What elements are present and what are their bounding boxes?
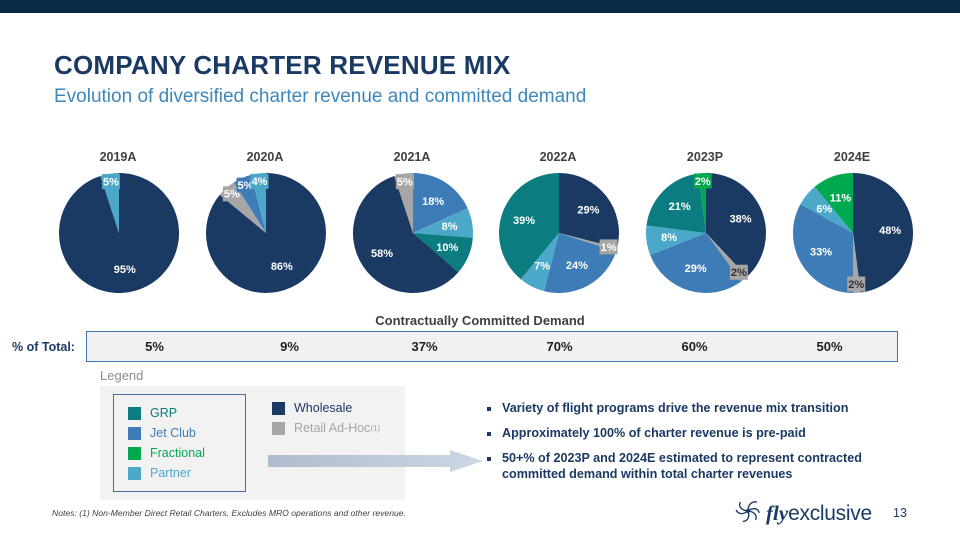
legend-item-retail-ad-hoc[interactable]: Retail Ad-Hoc(1) bbox=[272, 418, 402, 438]
legend-swatch-icon bbox=[128, 427, 141, 440]
bullet-marker-icon bbox=[487, 407, 491, 411]
pie-slice-value-label: 39% bbox=[513, 215, 535, 227]
page-subtitle: Evolution of diversified charter revenue… bbox=[54, 86, 586, 108]
legend-item-label: GRP bbox=[150, 406, 177, 420]
pie-slice-value-label: 2% bbox=[848, 279, 864, 291]
pie-svg: 86%5%5%4% bbox=[205, 172, 327, 294]
bullet-text: Variety of flight programs drive the rev… bbox=[502, 400, 848, 416]
pie-year-label: 2020A bbox=[185, 150, 345, 164]
legend-item-jet-club[interactable]: Jet Club bbox=[128, 423, 245, 443]
legend-item-label: Partner bbox=[150, 466, 191, 480]
percent-of-total-label: % of Total: bbox=[12, 340, 75, 354]
pie-svg: 95%5% bbox=[58, 172, 180, 294]
legend-item-wholesale[interactable]: Wholesale bbox=[272, 398, 402, 418]
legend-item-label: Wholesale bbox=[294, 401, 352, 415]
pie-slice-value-label: 2% bbox=[695, 176, 711, 188]
pie-year-label: 2023P bbox=[625, 150, 785, 164]
legend-item-label: Jet Club bbox=[150, 426, 196, 440]
pie-slice-value-label: 24% bbox=[566, 260, 588, 272]
pie-chart-2021a: 2021A18%8%10%58%5% bbox=[332, 150, 492, 325]
legend-swatch-icon bbox=[128, 467, 141, 480]
pie-slice-value-label: 11% bbox=[830, 192, 852, 204]
pie-slice-value-label: 21% bbox=[669, 201, 691, 213]
pie-slice-value-label: 7% bbox=[534, 261, 550, 273]
legend-swatch-icon bbox=[128, 407, 141, 420]
bullet-item: Variety of flight programs drive the rev… bbox=[487, 400, 927, 416]
slide-canvas: COMPANY CHARTER REVENUE MIX Evolution of… bbox=[0, 0, 960, 540]
legend-item-label: Fractional bbox=[150, 446, 205, 460]
pie-slice-value-label: 5% bbox=[397, 176, 413, 188]
logo-exclusive-text: exclusive bbox=[788, 502, 872, 525]
committed-demand-value: 9% bbox=[222, 339, 357, 354]
pie-slice-value-label: 6% bbox=[816, 204, 832, 216]
pie-slice-value-label: 38% bbox=[730, 214, 752, 226]
legend-swatch-icon bbox=[272, 422, 285, 435]
pie-slice-value-label: 8% bbox=[442, 221, 458, 233]
pie-svg: 18%8%10%58%5% bbox=[352, 172, 474, 294]
pie-slice-value-label: 1% bbox=[601, 242, 617, 254]
pie-slice-value-label: 29% bbox=[685, 263, 707, 275]
pie-slice-value-label: 33% bbox=[810, 246, 832, 258]
pie-slice-value-label: 8% bbox=[661, 232, 677, 244]
committed-demand-value: 70% bbox=[492, 339, 627, 354]
pie-slice-value-label: 10% bbox=[436, 242, 458, 254]
page-title: COMPANY CHARTER REVENUE MIX bbox=[54, 50, 511, 81]
pie-svg: 48%2%33%6%11% bbox=[792, 172, 914, 294]
bullet-text: 50+% of 2023P and 2024E estimated to rep… bbox=[502, 450, 927, 482]
legend-boxed-group: GRPJet ClubFractionalPartner bbox=[113, 394, 246, 492]
pie-slice-value-label: 95% bbox=[114, 264, 136, 276]
pie-slice-value-label: 86% bbox=[271, 261, 293, 273]
bullet-text: Approximately 100% of charter revenue is… bbox=[502, 425, 806, 441]
legend-heading: Legend bbox=[100, 368, 143, 383]
legend-footnote-marker: (1) bbox=[370, 424, 380, 433]
pie-chart-2022a: 2022A29%1%24%7%39% bbox=[478, 150, 638, 325]
pie-slice-value-label: 58% bbox=[371, 248, 393, 260]
pie-chart-2023p: 2023P38%2%29%8%21%2% bbox=[625, 150, 785, 325]
legend-outside-group: WholesaleRetail Ad-Hoc(1) bbox=[272, 398, 402, 438]
pie-year-label: 2022A bbox=[478, 150, 638, 164]
logo-fly-text: fly bbox=[766, 501, 788, 525]
legend-item-fractional[interactable]: Fractional bbox=[128, 443, 245, 463]
legend-item-partner[interactable]: Partner bbox=[128, 463, 245, 483]
committed-demand-title: Contractually Committed Demand bbox=[0, 313, 960, 328]
bullet-list: Variety of flight programs drive the rev… bbox=[487, 400, 927, 491]
turbine-swirl-icon bbox=[735, 498, 761, 529]
transition-arrow bbox=[268, 450, 483, 472]
committed-demand-value: 5% bbox=[87, 339, 222, 354]
pie-slice-value-label: 48% bbox=[879, 225, 901, 237]
logo-text: flyexclusive bbox=[766, 503, 872, 524]
pie-slice-value-label: 2% bbox=[731, 267, 747, 279]
page-number: 13 bbox=[893, 506, 907, 520]
committed-demand-value: 37% bbox=[357, 339, 492, 354]
committed-demand-value: 60% bbox=[627, 339, 762, 354]
pie-slice-value-label: 4% bbox=[252, 176, 268, 188]
committed-demand-value: 50% bbox=[762, 339, 897, 354]
legend-item-grp[interactable]: GRP bbox=[128, 403, 245, 423]
legend-swatch-icon bbox=[128, 447, 141, 460]
pie-year-label: 2019A bbox=[38, 150, 198, 164]
committed-demand-row: 5%9%37%70%60%50% bbox=[86, 331, 898, 362]
pie-slice-value-label: 18% bbox=[422, 196, 444, 208]
pie-chart-2024e: 2024E48%2%33%6%11% bbox=[772, 150, 932, 325]
pie-year-label: 2024E bbox=[772, 150, 932, 164]
bullet-item: 50+% of 2023P and 2024E estimated to rep… bbox=[487, 450, 927, 482]
pie-svg: 29%1%24%7%39% bbox=[498, 172, 620, 294]
company-logo: flyexclusive bbox=[735, 498, 872, 529]
pie-slice-value-label: 29% bbox=[577, 205, 599, 217]
bullet-marker-icon bbox=[487, 457, 491, 461]
legend-item-label: Retail Ad-Hoc bbox=[294, 421, 370, 435]
pie-slice-value-label: 5% bbox=[103, 176, 119, 188]
pie-chart-2020a: 2020A86%5%5%4% bbox=[185, 150, 345, 325]
legend-swatch-icon bbox=[272, 402, 285, 415]
pie-svg: 38%2%29%8%21%2% bbox=[645, 172, 767, 294]
pie-chart-2019a: 2019A95%5% bbox=[38, 150, 198, 325]
top-accent-bar bbox=[0, 0, 960, 13]
bullet-item: Approximately 100% of charter revenue is… bbox=[487, 425, 927, 441]
bullet-marker-icon bbox=[487, 432, 491, 436]
footnotes: Notes: (1) Non-Member Direct Retail Char… bbox=[52, 508, 406, 518]
pie-year-label: 2021A bbox=[332, 150, 492, 164]
